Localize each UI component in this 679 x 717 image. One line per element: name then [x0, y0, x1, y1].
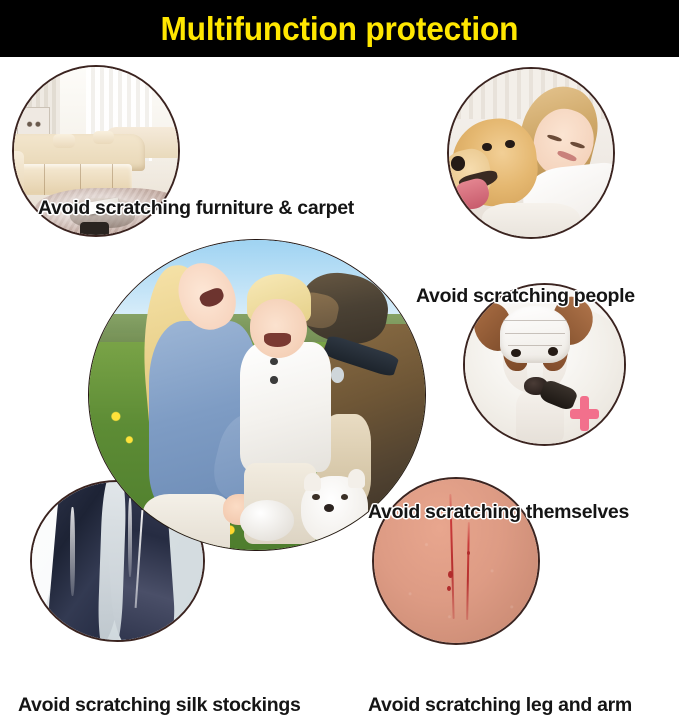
photo-dog-and-girl [447, 67, 615, 239]
dog-girl-scene [449, 69, 613, 237]
header-band: Multifunction protection [0, 0, 679, 57]
puppy-ear-right [348, 469, 365, 488]
stocking-sheen-left [70, 507, 75, 595]
caption-furniture: Avoid scratching furniture & carpet [38, 197, 354, 220]
pillow-front [482, 203, 580, 237]
boy-shirt-button-1 [270, 358, 277, 365]
caption-leg-and-arm: Avoid scratching leg and arm [368, 694, 632, 717]
bandaged-dog-scene [465, 285, 624, 444]
terrier-eye-right [548, 347, 558, 356]
caption-themselves: Avoid scratching themselves [368, 501, 629, 524]
bandage-wrap-line-1 [503, 320, 567, 321]
caption-stockings: Avoid scratching silk stockings [18, 694, 301, 717]
scratch-blood-spot-3 [467, 551, 470, 555]
sofa-armrest [14, 151, 24, 201]
sofa-headrest-1 [53, 134, 74, 147]
puppy-nose [324, 504, 334, 512]
pink-cross-horizontal [570, 409, 599, 419]
retriever-eye-right [505, 140, 515, 148]
puppy-ear-left [304, 473, 321, 492]
bandage-wrap-line-2 [505, 333, 565, 334]
white-object [240, 500, 294, 540]
infographic-canvas: Avoid scratching furniture & carpet Avoi… [0, 57, 679, 667]
pink-cross-bandage [570, 396, 599, 431]
sofa-headrest-2 [93, 131, 114, 144]
big-dog-tag [331, 367, 344, 383]
caption-people: Avoid scratching people [416, 285, 635, 308]
sofa-seam-1 [44, 164, 45, 194]
table-base [80, 222, 110, 235]
boy-mouth [264, 333, 291, 347]
woman-legs [143, 494, 230, 550]
scratch-blood-spot-2 [447, 586, 451, 591]
boy-face [250, 299, 307, 358]
boy-shirt-button-2 [270, 376, 277, 383]
scratch-blood-spot-1 [448, 571, 453, 578]
retriever-eye-left [482, 143, 492, 151]
boy-white-shirt [240, 342, 331, 472]
page-title: Multifunction protection [161, 10, 519, 48]
